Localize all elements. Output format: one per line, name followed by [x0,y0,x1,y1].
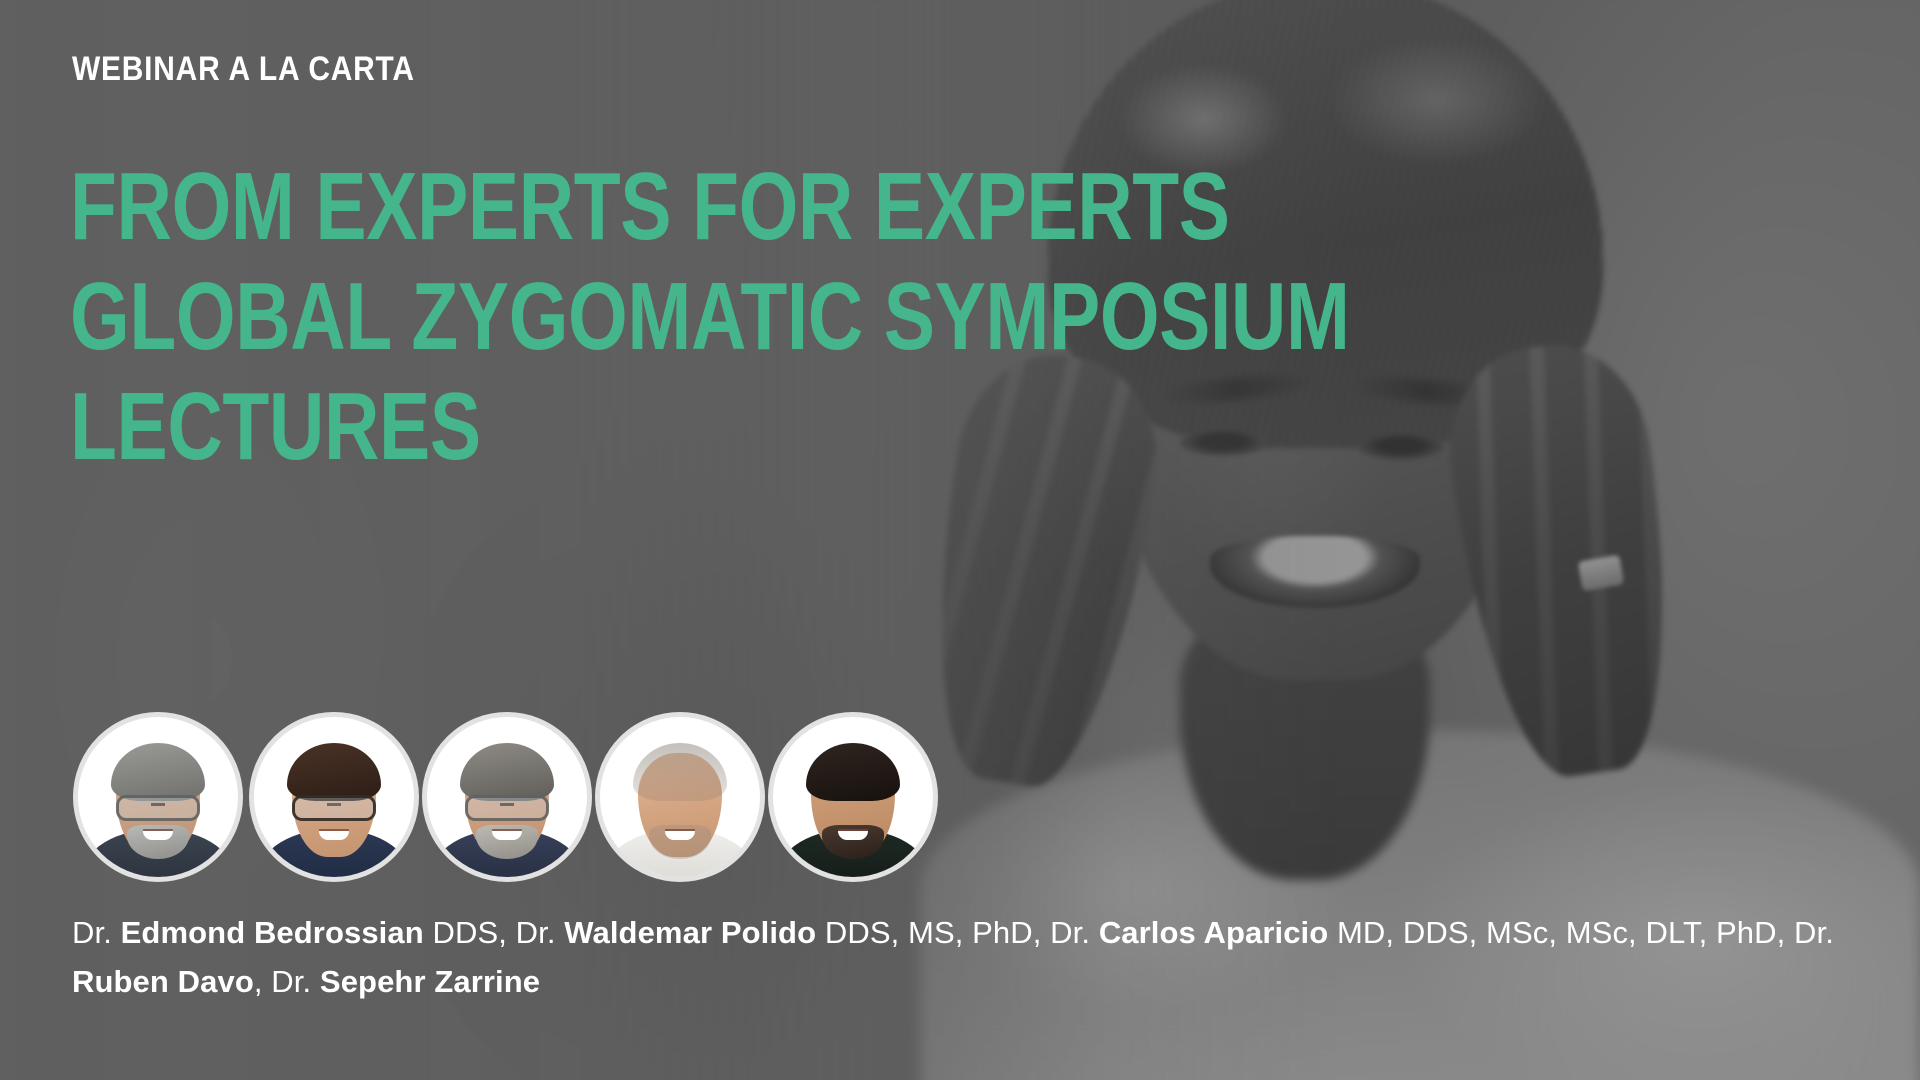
banner-content: WEBINAR A LA CARTA FROM EXPERTS FOR EXPE… [0,0,1920,1080]
headline-line-3: LECTURES [70,372,1350,482]
page-title: FROM EXPERTS FOR EXPERTS GLOBAL ZYGOMATI… [70,152,1350,482]
webinar-banner: WEBINAR A LA CARTA FROM EXPERTS FOR EXPE… [0,0,1920,1080]
speaker-credits-line-2: Ruben Davo, Dr. Sepehr Zarrine [72,957,1862,1006]
avatar-waldemar-polido [249,712,419,882]
avatar-edmond-bedrossian [73,712,243,882]
speaker-credits: Dr. Edmond Bedrossian DDS, Dr. Waldemar … [72,908,1862,1006]
speaker-credits-line-1: Dr. Edmond Bedrossian DDS, Dr. Waldemar … [72,908,1862,957]
avatar-ruben-davo [595,712,765,882]
headline-line-2: GLOBAL ZYGOMATIC SYMPOSIUM [70,262,1350,372]
headline-line-1: FROM EXPERTS FOR EXPERTS [70,152,1350,262]
avatar-carlos-aparicio [422,712,592,882]
eyebrow-label: WEBINAR A LA CARTA [72,50,415,89]
avatar-sepehr-zarrine [768,712,938,882]
